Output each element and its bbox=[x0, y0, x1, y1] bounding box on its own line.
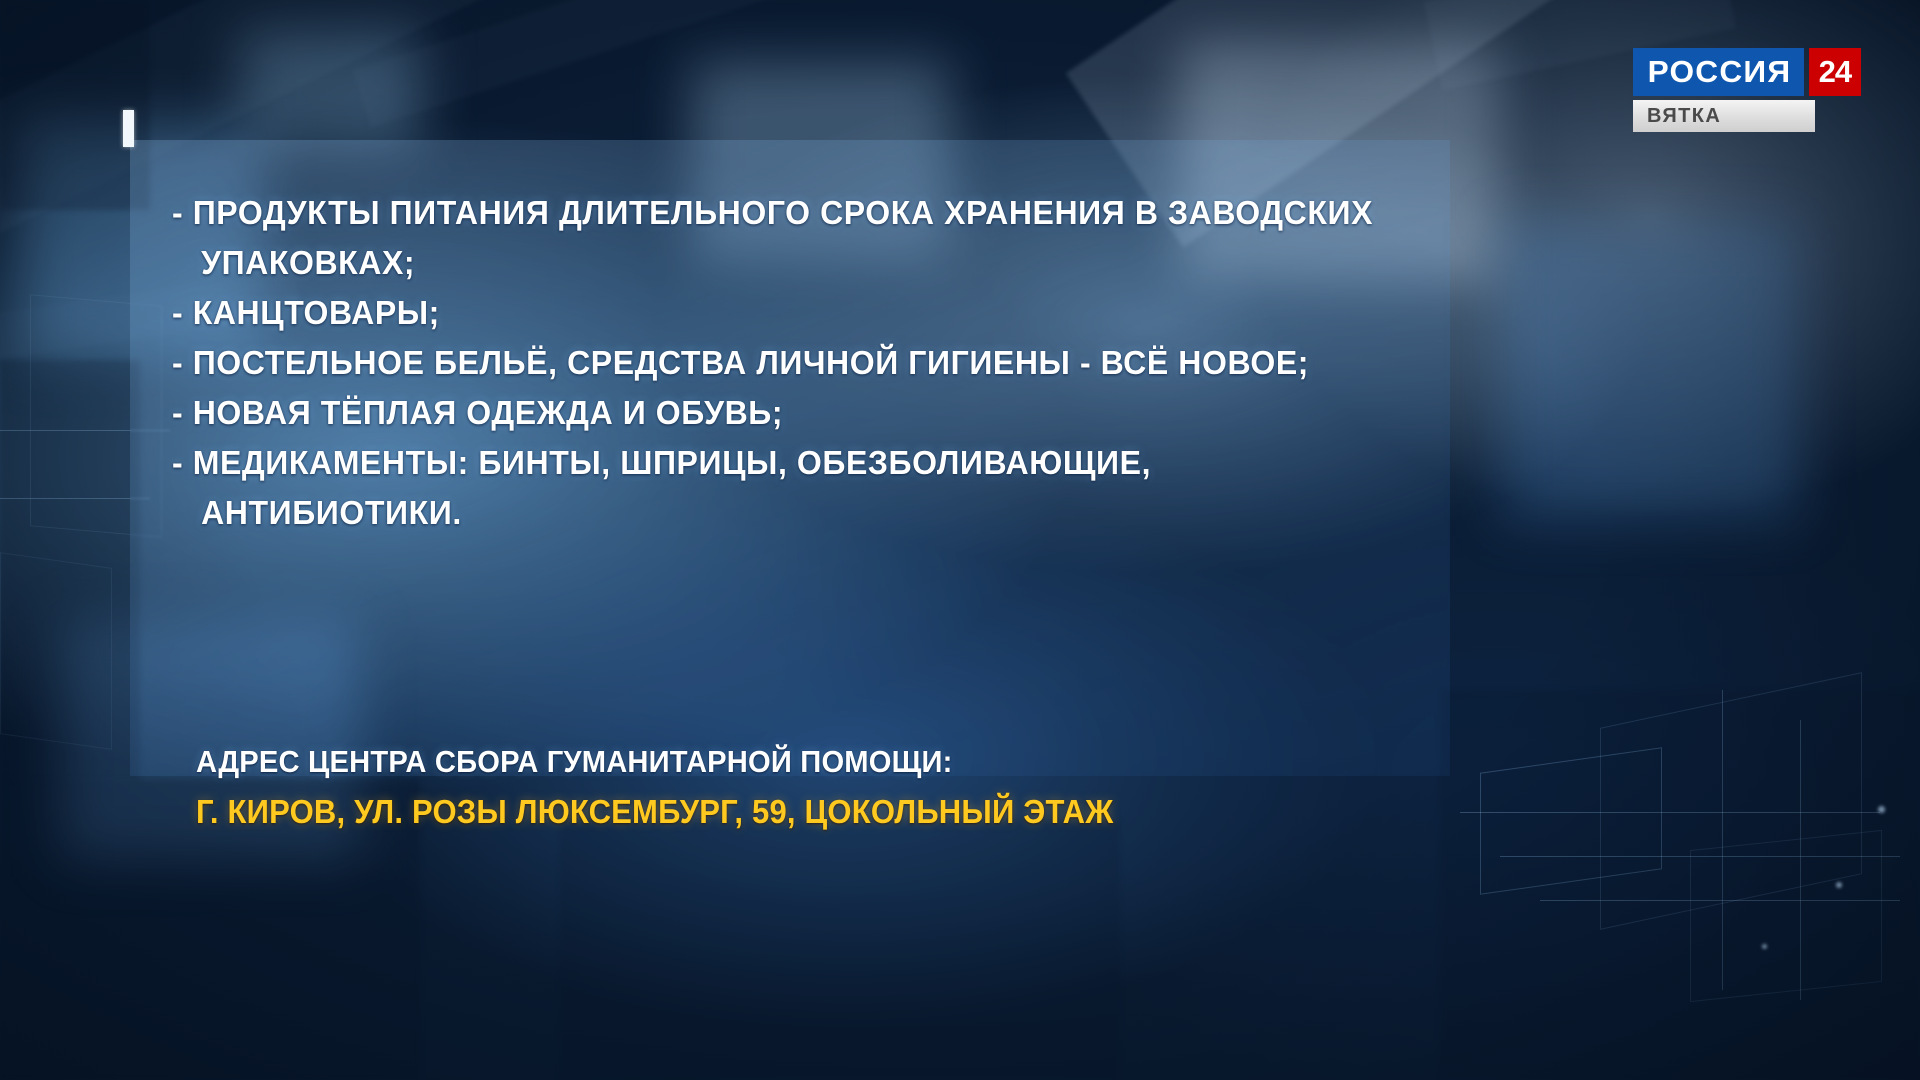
channel-logo: РОССИЯ 24 ВЯТКА bbox=[1633, 48, 1861, 132]
list-item: - КАНЦТОВАРЫ; bbox=[172, 288, 1394, 338]
channel-number-badge: 24 bbox=[1809, 48, 1861, 96]
region-badge: ВЯТКА bbox=[1633, 100, 1815, 132]
list-item: - МЕДИКАМЕНТЫ: БИНТЫ, ШПРИЦЫ, ОБЕЗБОЛИВА… bbox=[172, 438, 1394, 488]
channel-logo-row: РОССИЯ 24 bbox=[1633, 48, 1861, 96]
humanitarian-items-list: - ПРОДУКТЫ ПИТАНИЯ ДЛИТЕЛЬНОГО СРОКА ХРА… bbox=[172, 188, 1432, 538]
channel-name-badge: РОССИЯ bbox=[1633, 48, 1804, 96]
collection-center-address: АДРЕС ЦЕНТРА СБОРА ГУМАНИТАРНОЙ ПОМОЩИ: … bbox=[196, 738, 1436, 838]
list-item: - ПОСТЕЛЬНОЕ БЕЛЬЁ, СРЕДСТВА ЛИЧНОЙ ГИГИ… bbox=[172, 338, 1394, 388]
list-item: УПАКОВКАХ; bbox=[172, 238, 1394, 288]
list-item: АНТИБИОТИКИ. bbox=[172, 488, 1394, 538]
address-heading: АДРЕС ЦЕНТРА СБОРА ГУМАНИТАРНОЙ ПОМОЩИ: bbox=[196, 738, 1362, 786]
list-item: - ПРОДУКТЫ ПИТАНИЯ ДЛИТЕЛЬНОГО СРОКА ХРА… bbox=[172, 188, 1394, 238]
panel-accent-marker bbox=[123, 110, 134, 147]
list-item: - НОВАЯ ТЁПЛАЯ ОДЕЖДА И ОБУВЬ; bbox=[172, 388, 1394, 438]
channel-name-label: РОССИЯ bbox=[1648, 54, 1792, 90]
channel-number-label: 24 bbox=[1819, 54, 1851, 90]
address-value: Г. КИРОВ, УЛ. РОЗЫ ЛЮКСЕМБУРГ, 59, ЦОКОЛ… bbox=[196, 786, 1362, 838]
broadcast-frame: - ПРОДУКТЫ ПИТАНИЯ ДЛИТЕЛЬНОГО СРОКА ХРА… bbox=[0, 0, 1920, 1080]
region-label: ВЯТКА bbox=[1633, 105, 1721, 128]
